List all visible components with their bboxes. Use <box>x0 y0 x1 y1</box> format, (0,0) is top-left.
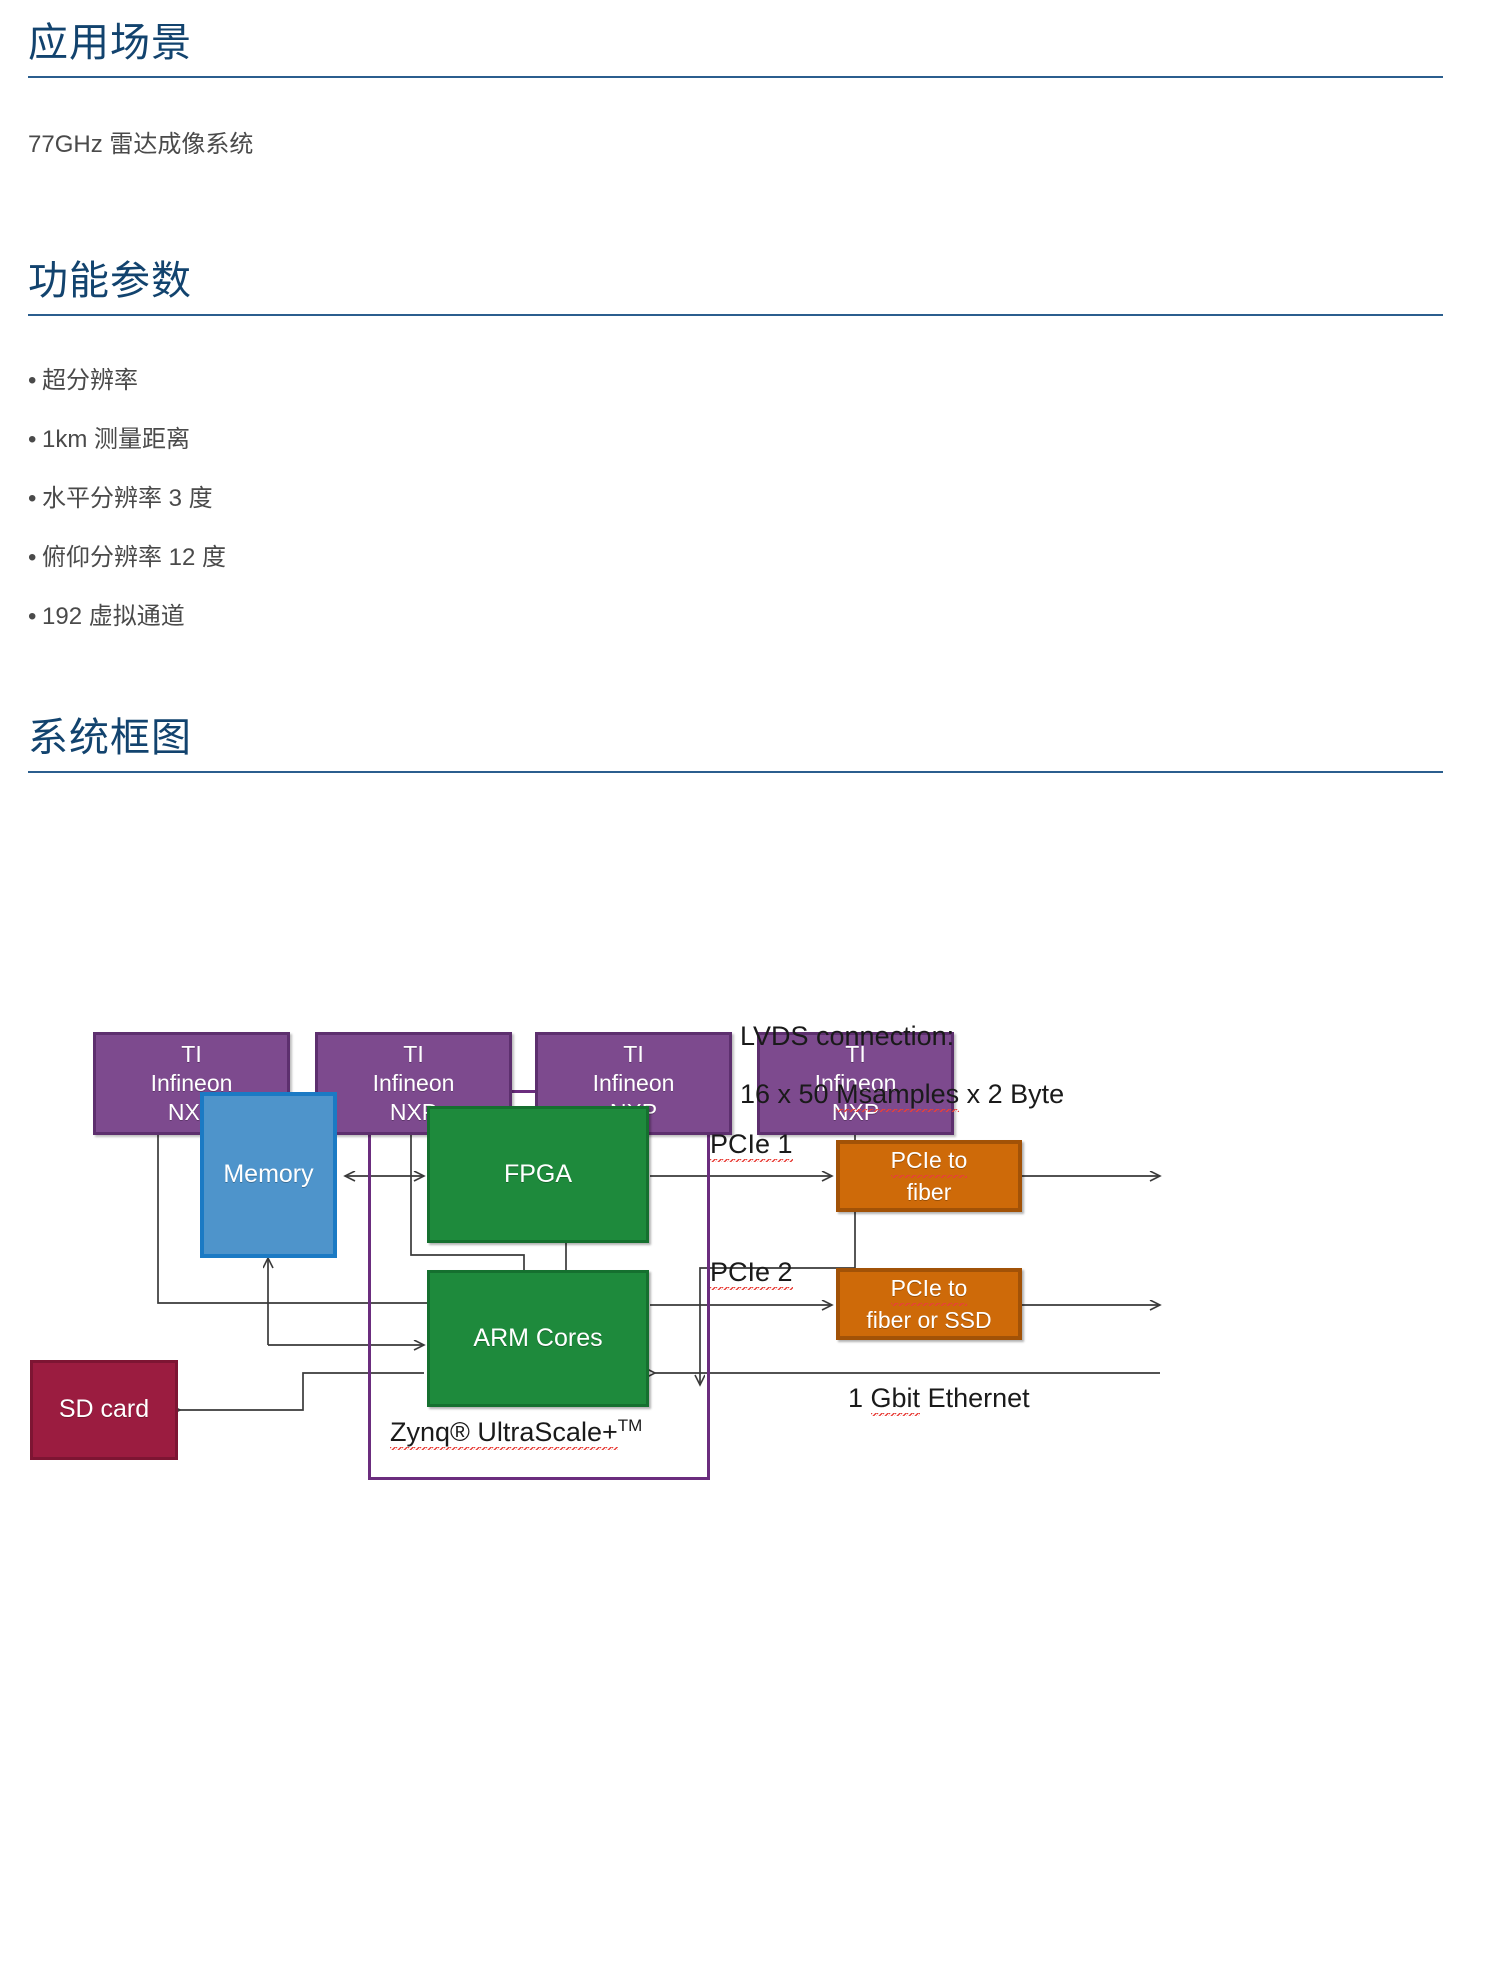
sensor-2-line1: TI <box>403 1040 423 1069</box>
bullet-dot-icon: • <box>28 425 42 455</box>
zynq-label-tm: TM <box>618 1416 643 1435</box>
lvds-rate-msamples: Msamples <box>836 1079 959 1112</box>
ethernet-label: 1 Gbit Ethernet <box>848 1382 1030 1414</box>
lvds-connection-label: LVDS connection: <box>740 1020 954 1052</box>
memory-block[interactable]: Memory <box>200 1092 337 1258</box>
sensor-1-line1: TI <box>181 1040 201 1069</box>
list-item: •192 虚拟通道 <box>28 602 226 632</box>
list-item-label: 192 虚拟通道 <box>42 603 185 630</box>
list-item-label: 水平分辨率 3 度 <box>42 485 213 512</box>
system-block-diagram: TI Infineon NXP TI Infineon NXP TI Infin… <box>0 1000 1500 1900</box>
bullet-dot-icon: • <box>28 366 42 396</box>
sensor-2-line2: Infineon <box>373 1069 455 1098</box>
document-page: 应用场景 77GHz 雷达成像系统 功能参数 •超分辨率 •1km 测量距离 •… <box>0 0 1500 1977</box>
list-item-label: 俯仰分辨率 12 度 <box>42 544 226 571</box>
bullet-dot-icon: • <box>28 484 42 514</box>
pcie-2-label: PCIe 2 <box>710 1256 793 1288</box>
list-item-label: 超分辨率 <box>42 367 138 394</box>
lvds-rate-prefix: 16 x 50 <box>740 1079 836 1109</box>
section-divider-application <box>28 76 1443 78</box>
section-system-block-diagram: 系统框图 <box>28 715 1443 773</box>
list-item: •俯仰分辨率 12 度 <box>28 543 226 573</box>
fpga-label: FPGA <box>504 1159 572 1190</box>
section-divider-parameters <box>28 314 1443 316</box>
bullet-dot-icon: • <box>28 602 42 632</box>
section-divider-block-diagram <box>28 771 1443 773</box>
sensor-3-line2: Infineon <box>593 1069 675 1098</box>
lvds-line-1: LVDS connection: <box>740 1021 954 1051</box>
list-item: •1km 测量距离 <box>28 425 226 455</box>
pcie-ssd-line2: fiber or SSD <box>866 1306 991 1335</box>
sd-card-block[interactable]: SD card <box>30 1360 178 1460</box>
section-function-parameters: 功能参数 <box>28 258 1443 316</box>
ethernet-label-gbit: Gbit <box>871 1383 921 1416</box>
pcie-to-fiber-or-ssd-block[interactable]: PCIe to fiber or SSD <box>836 1268 1022 1340</box>
pcie-fiber-line2: fiber <box>907 1178 952 1207</box>
section-title-application: 应用场景 <box>28 20 1443 66</box>
arm-cores-label: ARM Cores <box>473 1323 602 1354</box>
ethernet-label-suffix: Ethernet <box>920 1383 1030 1413</box>
arm-cores-block[interactable]: ARM Cores <box>427 1270 649 1407</box>
section-title-block-diagram: 系统框图 <box>28 715 1443 761</box>
pcie-ssd-line1: PCIe to <box>891 1274 968 1306</box>
lvds-rate-suffix: x 2 Byte <box>959 1079 1064 1109</box>
list-item-label: 1km 测量距离 <box>42 426 190 453</box>
pcie-1-label: PCIe 1 <box>710 1128 793 1160</box>
bullet-dot-icon: • <box>28 543 42 573</box>
parameter-bullet-list: •超分辨率 •1km 测量距离 •水平分辨率 3 度 •俯仰分辨率 12 度 •… <box>28 366 226 661</box>
fpga-block[interactable]: FPGA <box>427 1106 649 1243</box>
pcie-1-label-text: PCIe 1 <box>710 1129 793 1162</box>
zynq-label-main: Zynq® UltraScale+ <box>390 1417 618 1450</box>
list-item: •水平分辨率 3 度 <box>28 484 226 514</box>
application-body-text: 77GHz 雷达成像系统 <box>28 128 253 162</box>
pcie-2-label-text: PCIe 2 <box>710 1257 793 1290</box>
section-application-scenario: 应用场景 <box>28 20 1443 78</box>
zynq-device-label: Zynq® UltraScale+TM <box>390 1416 642 1448</box>
section-title-parameters: 功能参数 <box>28 258 1443 304</box>
pcie-fiber-line1: PCIe to <box>891 1146 968 1178</box>
sensor-3-line1: TI <box>623 1040 643 1069</box>
pcie-to-fiber-block[interactable]: PCIe to fiber <box>836 1140 1022 1212</box>
lvds-rate-label: 16 x 50 Msamples x 2 Byte <box>740 1078 1064 1110</box>
ethernet-label-prefix: 1 <box>848 1383 871 1413</box>
memory-label: Memory <box>223 1159 313 1190</box>
sd-card-label: SD card <box>59 1394 149 1425</box>
list-item: •超分辨率 <box>28 366 226 396</box>
